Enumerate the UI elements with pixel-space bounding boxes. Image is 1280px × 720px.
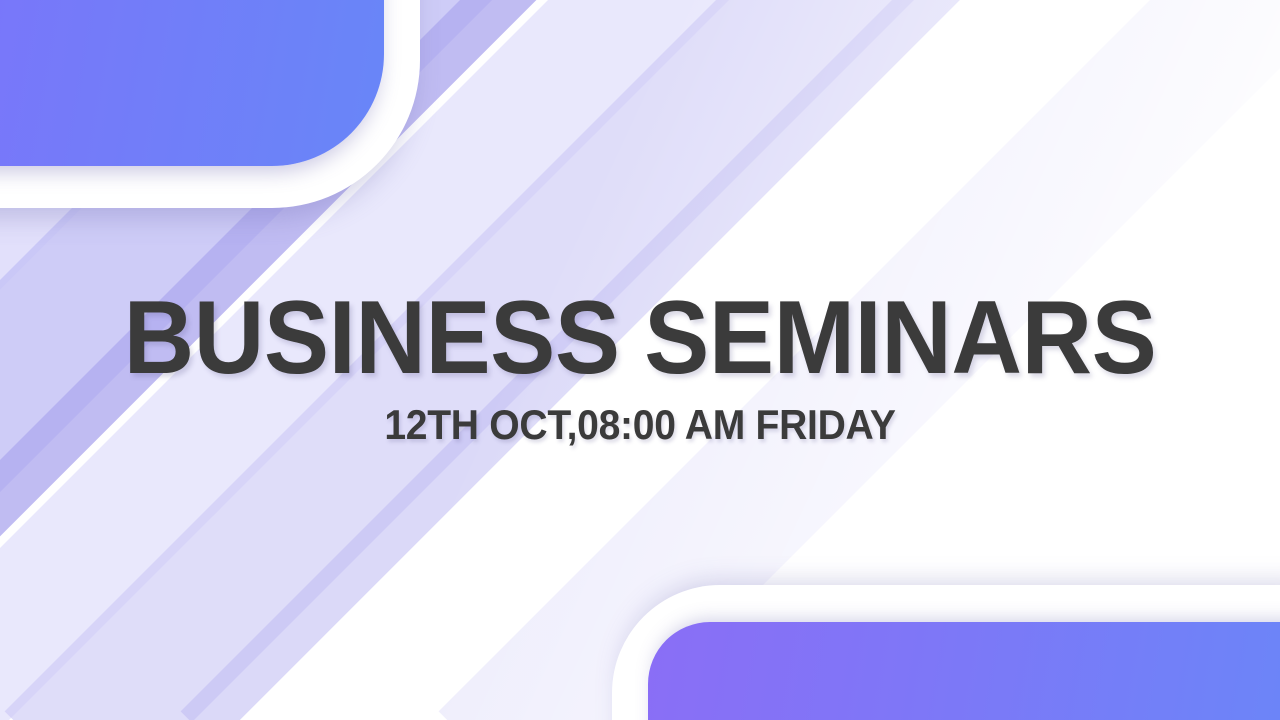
title-word-seminars: SEMINARS: [644, 280, 1156, 396]
title-word-business: BUSINESS: [124, 280, 620, 396]
event-datetime: 12TH OCT,08:00 AM FRIDAY: [45, 404, 1235, 446]
top-left-gradient-panel: [0, 0, 384, 166]
text-block: BUSINESSSEMINARS 12TH OCT,08:00 AM FRIDA…: [0, 286, 1280, 446]
bottom-right-gradient-panel: [648, 622, 1280, 720]
event-poster: BUSINESSSEMINARS 12TH OCT,08:00 AM FRIDA…: [0, 0, 1280, 720]
page-title: BUSINESSSEMINARS: [38, 286, 1241, 390]
